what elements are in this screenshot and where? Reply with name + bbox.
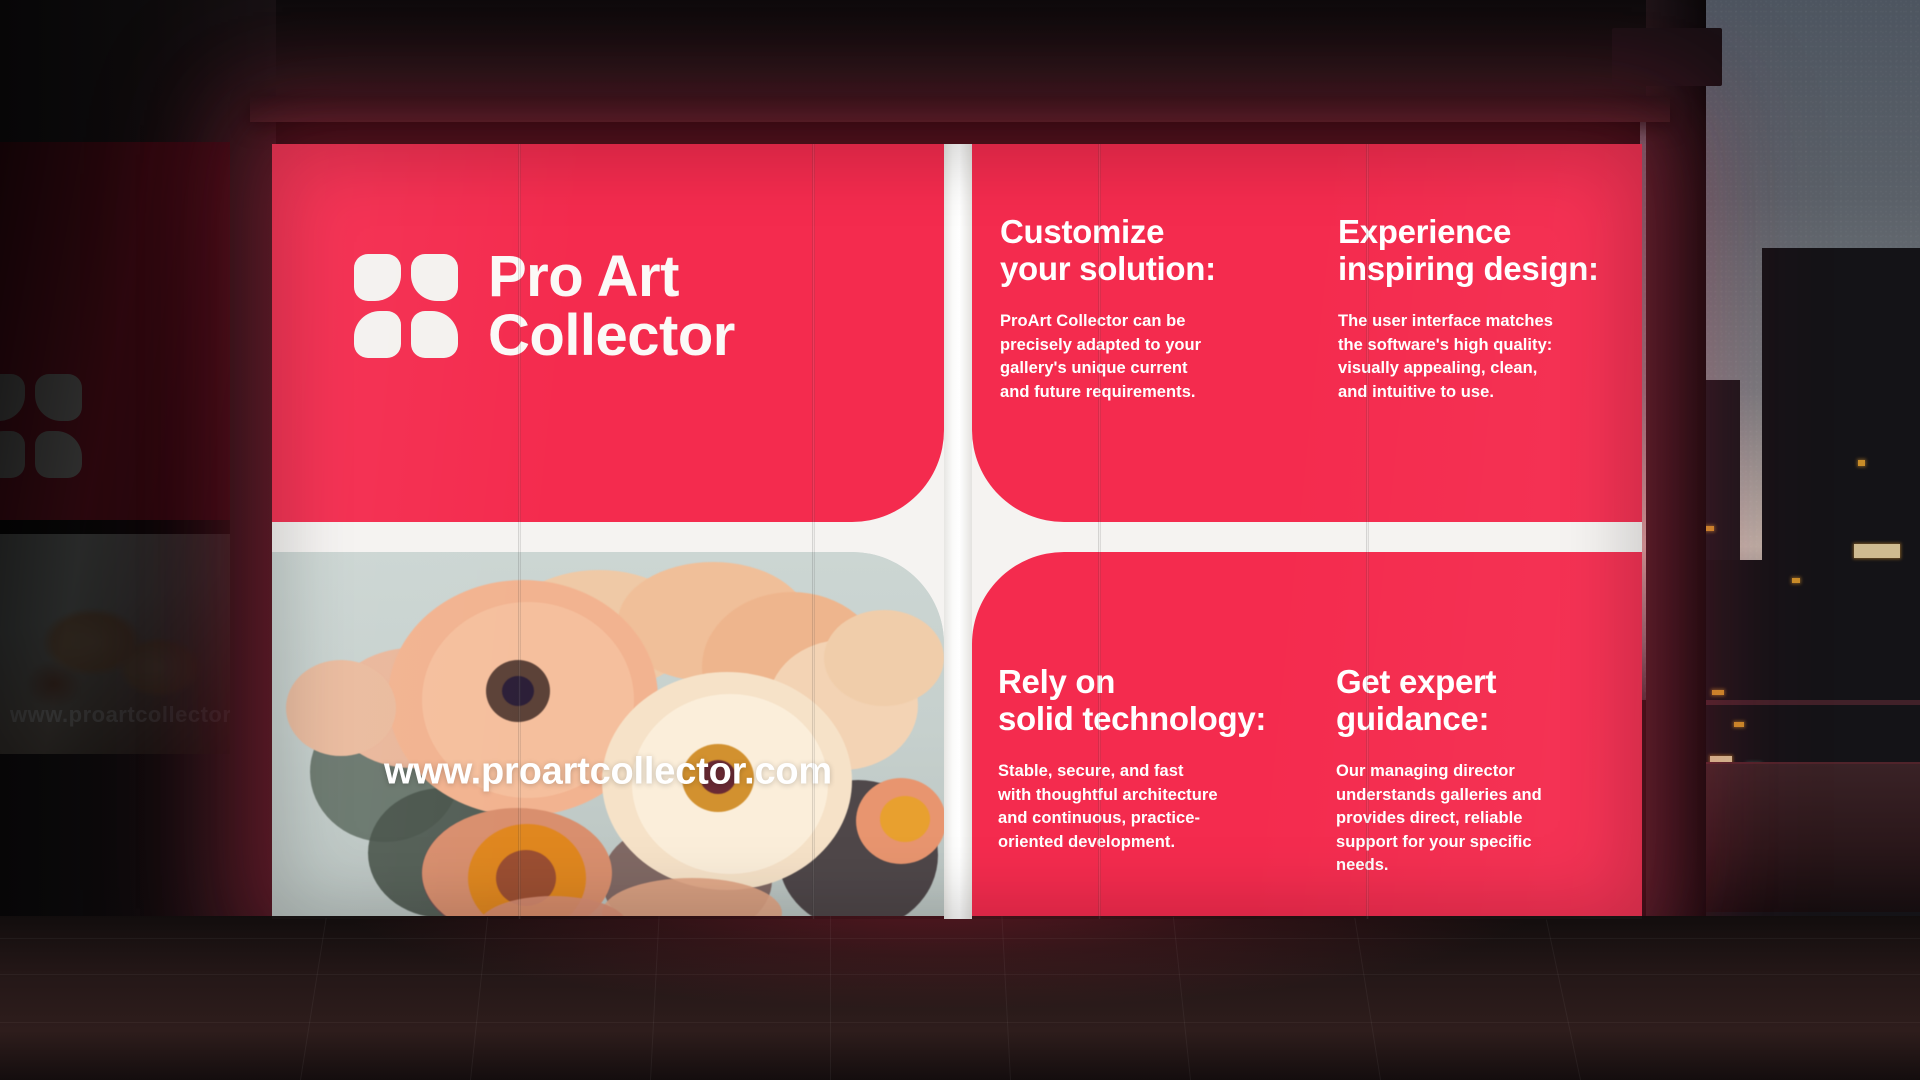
brand-name-line1: Pro Art [488, 247, 735, 306]
brand-wordmark: Pro Art Collector [488, 247, 735, 365]
window-display-artwork: www.proartcollector.com Pro Art Collecto… [272, 144, 1642, 919]
pavement [0, 916, 1920, 1080]
feature-card-guidance-heading: Get expert guidance: [1336, 664, 1640, 738]
floral-photo-image [272, 552, 944, 919]
window-header-beam [250, 96, 1670, 122]
feature-card-technology: Rely on solid technology: Stable, secure… [972, 552, 1302, 854]
building-facade-right [1646, 0, 1706, 960]
pavement-joint-v [830, 916, 831, 1080]
pavement-joint-h [0, 1022, 1920, 1023]
building-parapet [1612, 28, 1722, 86]
pavement-joint-h [0, 974, 1920, 975]
feature-card-experience-body: The user interface matches the software'… [1338, 310, 1640, 404]
feature-card-technology-heading: Rely on solid technology: [998, 664, 1302, 738]
storefront-scene: www.proartcollector.com [0, 0, 1920, 1080]
feature-card-technology-body: Stable, secure, and fast with thoughtful… [998, 760, 1302, 854]
center-mullion [944, 144, 972, 919]
feature-card-guidance-body: Our managing director understands galler… [1336, 760, 1640, 878]
left-panel-logo-icon [0, 374, 82, 478]
feature-card-customize-body: ProArt Collector can be precisely adapte… [1000, 310, 1302, 404]
pavement-joint-h [0, 938, 1920, 939]
terrace-bench [1676, 762, 1920, 912]
left-panel-url: www.proartcollector.com [10, 702, 230, 728]
website-url[interactable]: www.proartcollector.com [384, 751, 832, 794]
feature-card-experience-heading: Experience inspiring design: [1338, 214, 1640, 288]
brand-logo-lockup: Pro Art Collector [354, 247, 735, 365]
brand-name-line2: Collector [488, 306, 735, 365]
feature-card-guidance: Get expert guidance: Our managing direct… [1310, 552, 1640, 878]
feature-card-customize: Customize your solution: ProArt Collecto… [972, 144, 1302, 404]
feature-card-experience: Experience inspiring design: The user in… [1310, 144, 1640, 404]
panel-floral-photo: www.proartcollector.com [272, 552, 944, 919]
bouquet-illustration [272, 552, 944, 919]
pavement-red-light-spill [180, 916, 1700, 1080]
four-rounded-squares-logo-icon [354, 254, 458, 358]
feature-card-customize-heading: Customize your solution: [1000, 214, 1302, 288]
left-glass-panel: www.proartcollector.com [0, 142, 230, 754]
